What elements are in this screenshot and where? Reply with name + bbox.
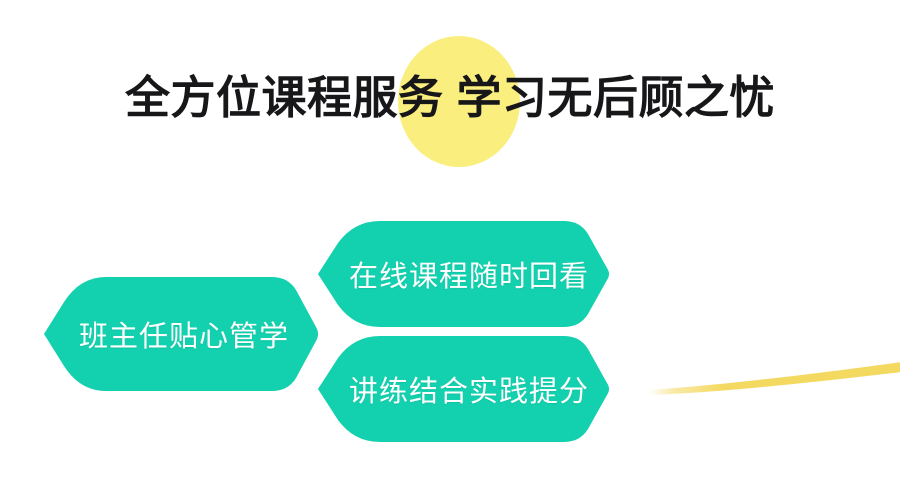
badge-secondary-bottom-label: 讲练结合实践提分 bbox=[318, 368, 610, 410]
yellow-swoosh-icon bbox=[640, 350, 900, 410]
badge-primary[interactable]: 班主任贴心管学 bbox=[44, 275, 318, 393]
slide-canvas: 全方位课程服务 学习无后顾之忧 班主任贴心管学 在线课程随时回看 讲练结合实践提… bbox=[0, 0, 900, 500]
badge-secondary-bottom[interactable]: 讲练结合实践提分 bbox=[318, 334, 610, 444]
badge-secondary-top[interactable]: 在线课程随时回看 bbox=[318, 219, 610, 329]
badge-secondary-top-label: 在线课程随时回看 bbox=[318, 253, 610, 295]
page-title: 全方位课程服务 学习无后顾之忧 bbox=[0, 70, 900, 126]
badge-primary-label: 班主任贴心管学 bbox=[44, 313, 318, 355]
